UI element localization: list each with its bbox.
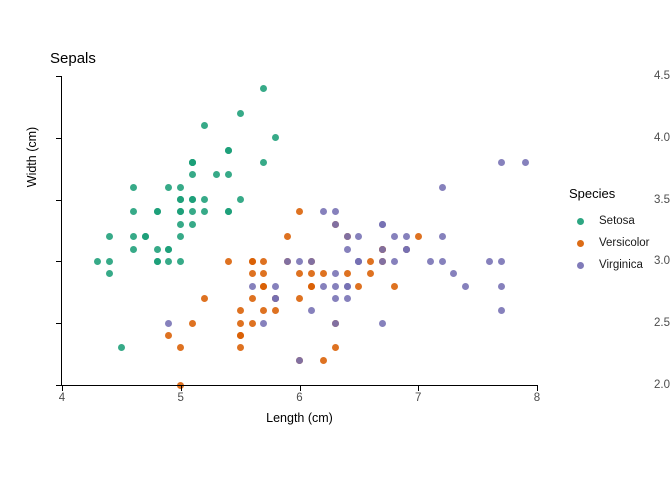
data-point bbox=[427, 258, 434, 265]
legend-key bbox=[569, 218, 591, 225]
data-point bbox=[272, 283, 279, 290]
y-tick-label: 2.0 bbox=[620, 379, 672, 391]
data-point bbox=[320, 357, 327, 364]
data-point bbox=[177, 233, 184, 240]
data-point bbox=[344, 295, 351, 302]
data-point bbox=[296, 295, 303, 302]
data-point bbox=[260, 320, 267, 327]
x-tick-mark bbox=[181, 386, 182, 391]
data-point bbox=[165, 246, 172, 253]
data-point bbox=[225, 258, 232, 265]
x-tick-mark bbox=[418, 386, 419, 391]
data-point bbox=[391, 258, 398, 265]
data-point bbox=[320, 270, 327, 277]
x-tick-mark bbox=[537, 386, 538, 391]
data-point bbox=[344, 270, 351, 277]
plot-panel bbox=[62, 76, 537, 385]
data-point bbox=[367, 258, 374, 265]
data-point bbox=[320, 283, 327, 290]
data-point bbox=[522, 159, 529, 166]
data-point bbox=[154, 246, 161, 253]
legend-title: Species bbox=[569, 186, 650, 201]
y-tick-mark bbox=[56, 138, 61, 139]
y-tick-label: 4.5 bbox=[620, 70, 672, 82]
y-tick-mark bbox=[56, 385, 61, 386]
data-point bbox=[379, 258, 386, 265]
data-point bbox=[177, 344, 184, 351]
data-point bbox=[225, 147, 232, 154]
x-axis-title: Length (cm) bbox=[62, 411, 537, 425]
data-point bbox=[272, 134, 279, 141]
y-tick-label: 2.5 bbox=[620, 317, 672, 329]
data-point bbox=[225, 171, 232, 178]
data-point bbox=[189, 221, 196, 228]
data-point bbox=[260, 283, 267, 290]
y-axis-title: Width (cm) bbox=[25, 77, 39, 237]
data-point bbox=[296, 208, 303, 215]
data-point bbox=[237, 307, 244, 314]
data-point bbox=[225, 208, 232, 215]
data-point bbox=[332, 295, 339, 302]
data-point bbox=[379, 246, 386, 253]
data-point bbox=[249, 258, 256, 265]
x-tick-mark bbox=[62, 386, 63, 391]
data-point bbox=[237, 110, 244, 117]
data-point bbox=[391, 233, 398, 240]
data-points-layer bbox=[62, 76, 537, 385]
data-point bbox=[260, 307, 267, 314]
data-point bbox=[355, 283, 362, 290]
legend-swatch-icon bbox=[577, 240, 584, 247]
data-point bbox=[355, 258, 362, 265]
data-point bbox=[213, 171, 220, 178]
data-point bbox=[130, 246, 137, 253]
y-tick-mark bbox=[56, 200, 61, 201]
data-point bbox=[344, 246, 351, 253]
legend-label: Setosa bbox=[599, 215, 635, 227]
data-point bbox=[308, 307, 315, 314]
data-point bbox=[94, 258, 101, 265]
page-title: Sepals bbox=[50, 50, 96, 67]
data-point bbox=[154, 258, 161, 265]
data-point bbox=[165, 184, 172, 191]
data-point bbox=[106, 233, 113, 240]
x-tick-label: 4 bbox=[42, 392, 82, 404]
x-tick-label: 8 bbox=[517, 392, 557, 404]
legend-key bbox=[569, 262, 591, 269]
data-point bbox=[189, 159, 196, 166]
data-point bbox=[177, 208, 184, 215]
data-point bbox=[403, 246, 410, 253]
x-tick-label: 5 bbox=[161, 392, 201, 404]
data-point bbox=[260, 258, 267, 265]
data-point bbox=[237, 196, 244, 203]
data-point bbox=[177, 196, 184, 203]
data-point bbox=[332, 344, 339, 351]
data-point bbox=[189, 320, 196, 327]
data-point bbox=[118, 344, 125, 351]
data-point bbox=[249, 283, 256, 290]
data-point bbox=[201, 196, 208, 203]
data-point bbox=[439, 258, 446, 265]
legend-key bbox=[569, 240, 591, 247]
data-point bbox=[284, 233, 291, 240]
legend-swatch-icon bbox=[577, 218, 584, 225]
data-point bbox=[498, 307, 505, 314]
y-tick-mark bbox=[56, 323, 61, 324]
data-point bbox=[296, 270, 303, 277]
data-point bbox=[249, 270, 256, 277]
data-point bbox=[462, 283, 469, 290]
data-point bbox=[249, 295, 256, 302]
data-point bbox=[260, 159, 267, 166]
data-point bbox=[332, 208, 339, 215]
data-point bbox=[130, 233, 137, 240]
y-tick-mark bbox=[56, 76, 61, 77]
data-point bbox=[498, 283, 505, 290]
data-point bbox=[486, 258, 493, 265]
data-point bbox=[320, 208, 327, 215]
data-point bbox=[439, 233, 446, 240]
data-point bbox=[344, 233, 351, 240]
data-point bbox=[379, 320, 386, 327]
data-point bbox=[165, 258, 172, 265]
data-point bbox=[391, 283, 398, 290]
data-point bbox=[106, 270, 113, 277]
data-point bbox=[201, 122, 208, 129]
data-point bbox=[106, 258, 113, 265]
data-point bbox=[355, 233, 362, 240]
data-point bbox=[403, 233, 410, 240]
data-point bbox=[189, 196, 196, 203]
data-point bbox=[237, 344, 244, 351]
data-point bbox=[332, 283, 339, 290]
data-point bbox=[142, 233, 149, 240]
data-point bbox=[177, 184, 184, 191]
y-tick-mark bbox=[56, 261, 61, 262]
data-point bbox=[379, 221, 386, 228]
data-point bbox=[130, 184, 137, 191]
data-point bbox=[498, 258, 505, 265]
y-axis-line bbox=[61, 76, 62, 386]
data-point bbox=[260, 270, 267, 277]
data-point bbox=[237, 332, 244, 339]
data-point bbox=[189, 171, 196, 178]
data-point bbox=[249, 320, 256, 327]
legend-label: Versicolor bbox=[599, 237, 650, 249]
data-point bbox=[130, 208, 137, 215]
data-point bbox=[332, 270, 339, 277]
legend: Species SetosaVersicolorVirginica bbox=[569, 186, 650, 276]
data-point bbox=[177, 258, 184, 265]
scatter-plot-figure: Sepals 2.02.53.03.54.04.5 45678 Length (… bbox=[0, 0, 672, 480]
data-point bbox=[272, 307, 279, 314]
legend-label: Virginica bbox=[599, 259, 643, 271]
x-tick-mark bbox=[300, 386, 301, 391]
data-point bbox=[165, 320, 172, 327]
data-point bbox=[296, 258, 303, 265]
data-point bbox=[450, 270, 457, 277]
legend-item-setosa[interactable]: Setosa bbox=[569, 210, 650, 232]
data-point bbox=[332, 221, 339, 228]
data-point bbox=[272, 295, 279, 302]
data-point bbox=[308, 258, 315, 265]
data-point bbox=[284, 258, 291, 265]
data-point bbox=[367, 270, 374, 277]
data-point bbox=[154, 208, 161, 215]
data-point bbox=[439, 184, 446, 191]
x-tick-label: 7 bbox=[398, 392, 438, 404]
data-point bbox=[498, 159, 505, 166]
data-point bbox=[308, 283, 315, 290]
legend-swatch-icon bbox=[577, 262, 584, 269]
legend-item-virginica[interactable]: Virginica bbox=[569, 254, 650, 276]
legend-item-versicolor[interactable]: Versicolor bbox=[569, 232, 650, 254]
data-point bbox=[165, 332, 172, 339]
data-point bbox=[344, 283, 351, 290]
x-tick-label: 6 bbox=[280, 392, 320, 404]
data-point bbox=[201, 295, 208, 302]
data-point bbox=[332, 320, 339, 327]
data-point bbox=[308, 270, 315, 277]
data-point bbox=[201, 208, 208, 215]
data-point bbox=[189, 208, 196, 215]
y-tick-label: 4.0 bbox=[620, 132, 672, 144]
legend-items: SetosaVersicolorVirginica bbox=[569, 210, 650, 276]
data-point bbox=[296, 357, 303, 364]
data-point bbox=[415, 233, 422, 240]
data-point bbox=[260, 85, 267, 92]
data-point bbox=[237, 320, 244, 327]
data-point bbox=[177, 221, 184, 228]
